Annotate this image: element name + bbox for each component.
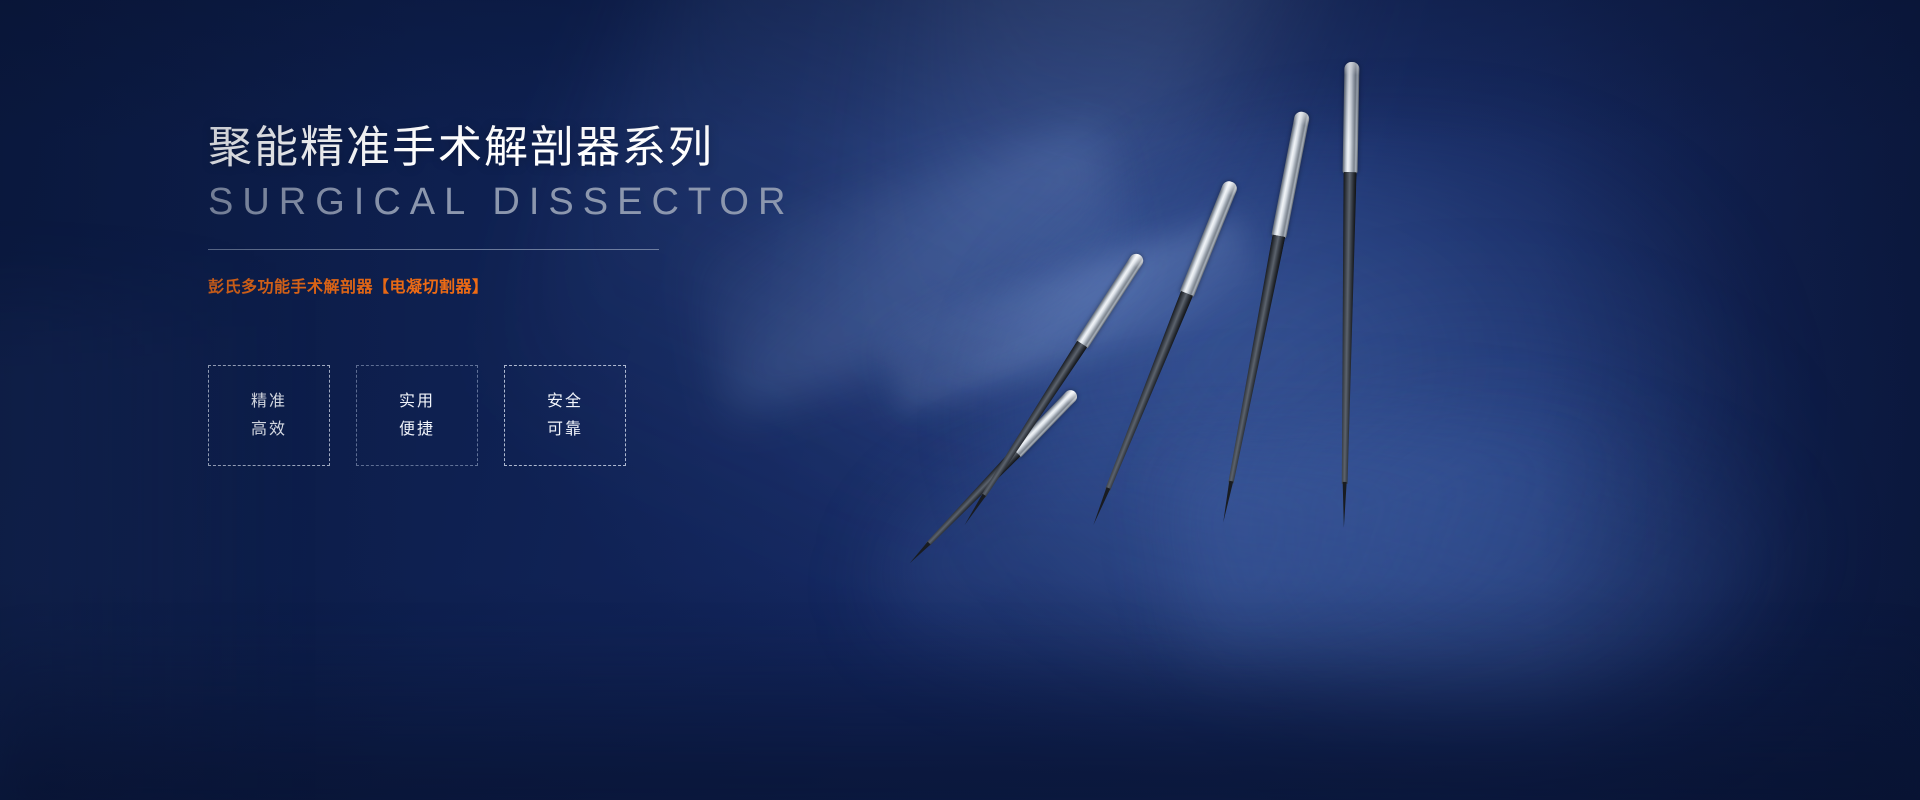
feature-tag-line-2: 便捷	[399, 420, 435, 440]
feature-tag-line-1: 安全	[547, 392, 583, 412]
light-streak-secondary	[774, 0, 1346, 654]
instrument-shaft	[978, 341, 1087, 500]
instrument-metal-grip	[1075, 251, 1146, 349]
feature-tag-line-2: 可靠	[547, 420, 583, 440]
instrument-metal-grip	[1343, 62, 1360, 174]
instrument-shaft	[1224, 234, 1285, 484]
background-surgical-tray	[1168, 399, 1653, 671]
feature-tag-line-2: 高效	[251, 420, 287, 440]
feature-tag-line-1: 精准	[251, 392, 287, 412]
instrument-shaft	[1338, 172, 1356, 484]
banner-copy: 聚能精准手术解剖器系列 SURGICAL DISSECTOR 彭氏多功能手术解剖…	[208, 0, 848, 800]
page-subtitle-english: SURGICAL DISSECTOR	[208, 178, 794, 226]
title-divider	[208, 249, 659, 250]
instrument-shaft	[1102, 291, 1193, 492]
page-title: 聚能精准手术解剖器系列	[208, 119, 714, 177]
background-gloved-hand	[1000, 140, 1760, 700]
background-blurred-instrument-secondary	[875, 216, 1265, 413]
product-name-highlight: 彭氏多功能手术解剖器【电凝切割器】	[208, 275, 489, 301]
instrument-metal-grip	[1011, 387, 1080, 458]
instrument-shaft	[924, 449, 1021, 549]
feature-tag-row: 精准 高效 实用 便捷 安全 可靠	[208, 365, 626, 466]
instrument-tip	[1342, 482, 1347, 528]
instrument-metal-grip	[1179, 179, 1239, 298]
feature-tag-precision: 精准 高效	[208, 365, 330, 466]
feature-tag-line-1: 实用	[399, 392, 435, 412]
instrument-metal-grip	[1271, 111, 1310, 240]
instrument-tip	[908, 542, 930, 565]
hero-banner: 聚能精准手术解剖器系列 SURGICAL DISSECTOR 彭氏多功能手术解剖…	[0, 0, 1920, 800]
instrument-tip	[1221, 481, 1233, 523]
background-gloved-hand-secondary	[1180, 300, 1800, 770]
instrument-tip	[963, 494, 986, 526]
instrument-tip	[1092, 487, 1111, 526]
feature-tag-safety: 安全 可靠	[504, 365, 626, 466]
background-forearm	[880, 400, 1780, 730]
feature-tag-practical: 实用 便捷	[356, 365, 478, 466]
